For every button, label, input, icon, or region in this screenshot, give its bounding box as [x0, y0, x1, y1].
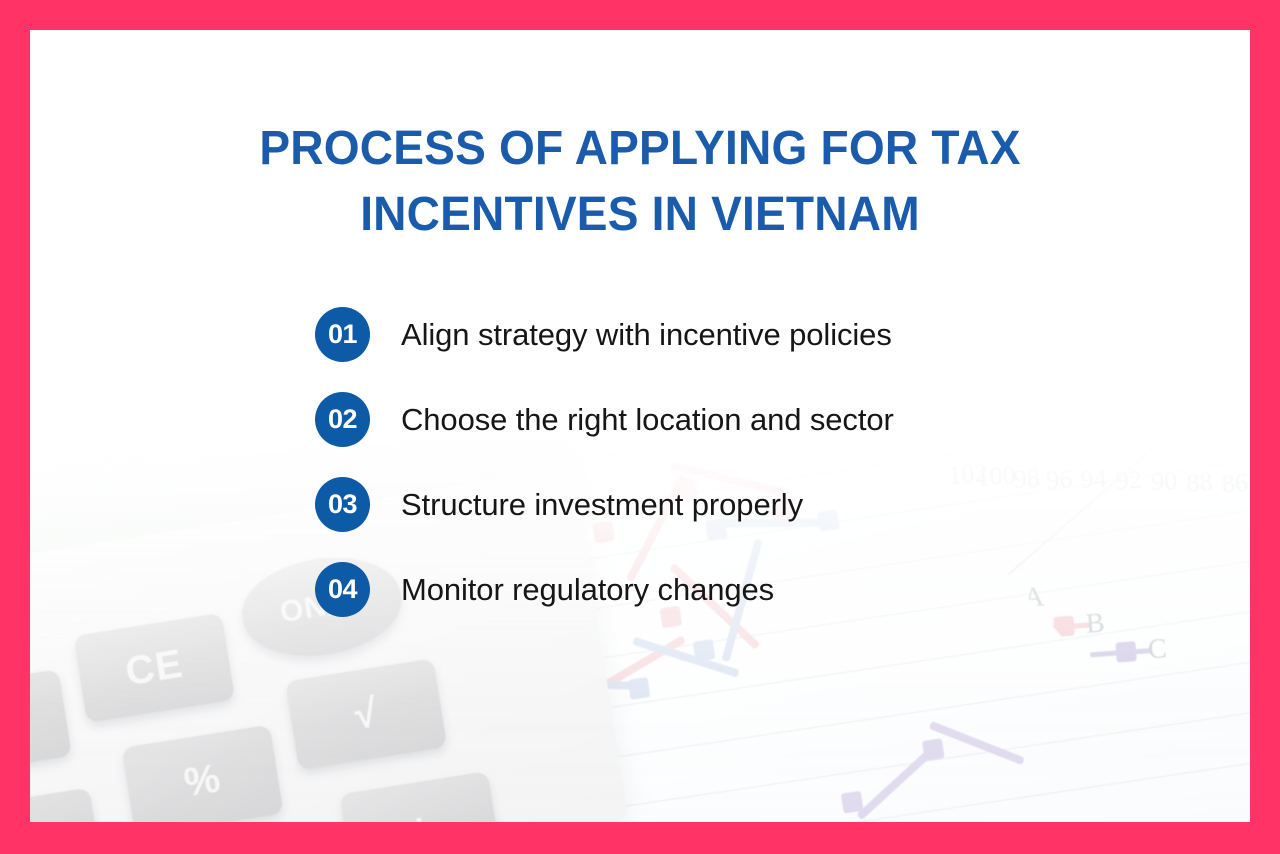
- step-label-03: Structure investment properly: [401, 486, 803, 524]
- infographic-frame: 4 5 6 7 8 9 10 11 12: [0, 0, 1280, 854]
- page-title-line-2: INCENTIVES IN VIETNAM: [54, 182, 1225, 248]
- step-badge-01: 01: [315, 307, 370, 362]
- page-title: PROCESS OF APPLYING FOR TAX INCENTIVES I…: [54, 116, 1225, 248]
- list-item[interactable]: 04 Monitor regulatory changes: [315, 547, 1215, 632]
- page-title-line-1: PROCESS OF APPLYING FOR TAX: [54, 116, 1225, 182]
- step-label-01: Align strategy with incentive policies: [401, 316, 892, 354]
- slide-content: PROCESS OF APPLYING FOR TAX INCENTIVES I…: [30, 30, 1250, 822]
- step-label-02: Choose the right location and sector: [401, 401, 894, 439]
- step-badge-02: 02: [315, 392, 370, 447]
- slide-card: 4 5 6 7 8 9 10 11 12: [30, 30, 1250, 822]
- step-badge-04: 04: [315, 562, 370, 617]
- step-label-04: Monitor regulatory changes: [401, 571, 774, 609]
- list-item[interactable]: 01 Align strategy with incentive policie…: [315, 292, 1215, 377]
- list-item[interactable]: 02 Choose the right location and sector: [315, 377, 1215, 462]
- list-item[interactable]: 03 Structure investment properly: [315, 462, 1215, 547]
- step-badge-03: 03: [315, 477, 370, 532]
- steps-list: 01 Align strategy with incentive policie…: [315, 292, 1215, 632]
